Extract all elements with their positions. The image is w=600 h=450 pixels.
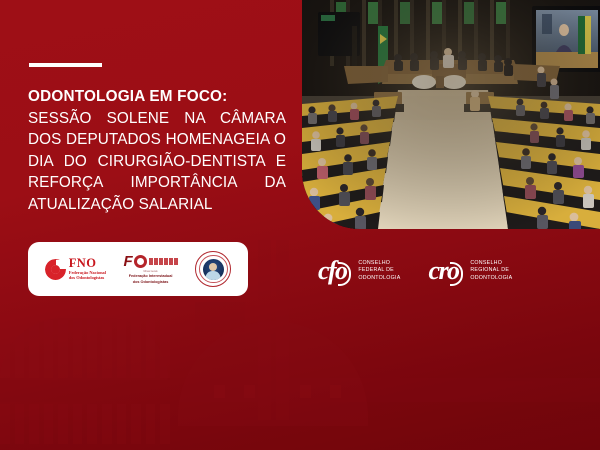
fio-logo: F Minas Gerais Federação Interestadual d… [124,254,178,285]
cfo-descriptor: CONSELHO FEDERAL DE ODONTOLOGIA [358,260,400,282]
plenary-photo-image [302,0,600,229]
partner-logo-panel: FNO Federação Nacional dos Odontologista… [28,242,248,296]
fno-spiral-icon [45,259,66,280]
cfo-line3: ODONTOLOGIA [358,275,400,282]
union-seal-logo [195,251,231,287]
cfo-line1: CONSELHO [358,260,400,267]
cro-wordmark: cro [429,258,464,284]
fio-ring-icon [134,255,147,268]
plenary-photo [302,0,600,229]
cro-descriptor: CONSELHO REGIONAL DE ODONTOLOGIA [470,260,512,282]
cfo-wordmark: cfo [318,258,351,284]
cro-line2: REGIONAL DE [470,267,512,274]
headline-lead: ODONTOLOGIA EM FOCO: [28,86,286,108]
poster-canvas: ODONTOLOGIA EM FOCO: SESSÃO SOLENE NA CÂ… [0,0,600,450]
cfo-line2: FEDERAL DE [358,267,400,274]
cro-logo: cro CONSELHO REGIONAL DE ODONTOLOGIA [429,258,513,284]
cro-line1: CONSELHO [470,260,512,267]
cfo-logo: cfo CONSELHO FEDERAL DE ODONTOLOGIA [318,258,401,284]
fio-acronym-f: F [124,254,133,269]
seal-portrait-icon [203,259,224,280]
headline-body: SESSÃO SOLENE NA CÂMARA DOS DEPUTADOS HO… [28,108,286,216]
accent-rule [29,63,102,67]
fno-logo: FNO Federação Nacional dos Odontologista… [45,257,106,280]
fno-acronym: FNO [69,257,106,270]
council-logos: cfo CONSELHO FEDERAL DE ODONTOLOGIA cro … [318,258,512,284]
fio-line2: dos Odontologistas [133,280,169,285]
fio-bars-icon [149,258,178,265]
fio-line1: Federação Interestadual [129,274,173,279]
fio-tiny-label: Minas Gerais [144,270,158,273]
page-title: ODONTOLOGIA EM FOCO: SESSÃO SOLENE NA CÂ… [28,86,286,215]
fno-line2: dos Odontologistas [69,275,106,280]
cro-line3: ODONTOLOGIA [470,275,512,282]
